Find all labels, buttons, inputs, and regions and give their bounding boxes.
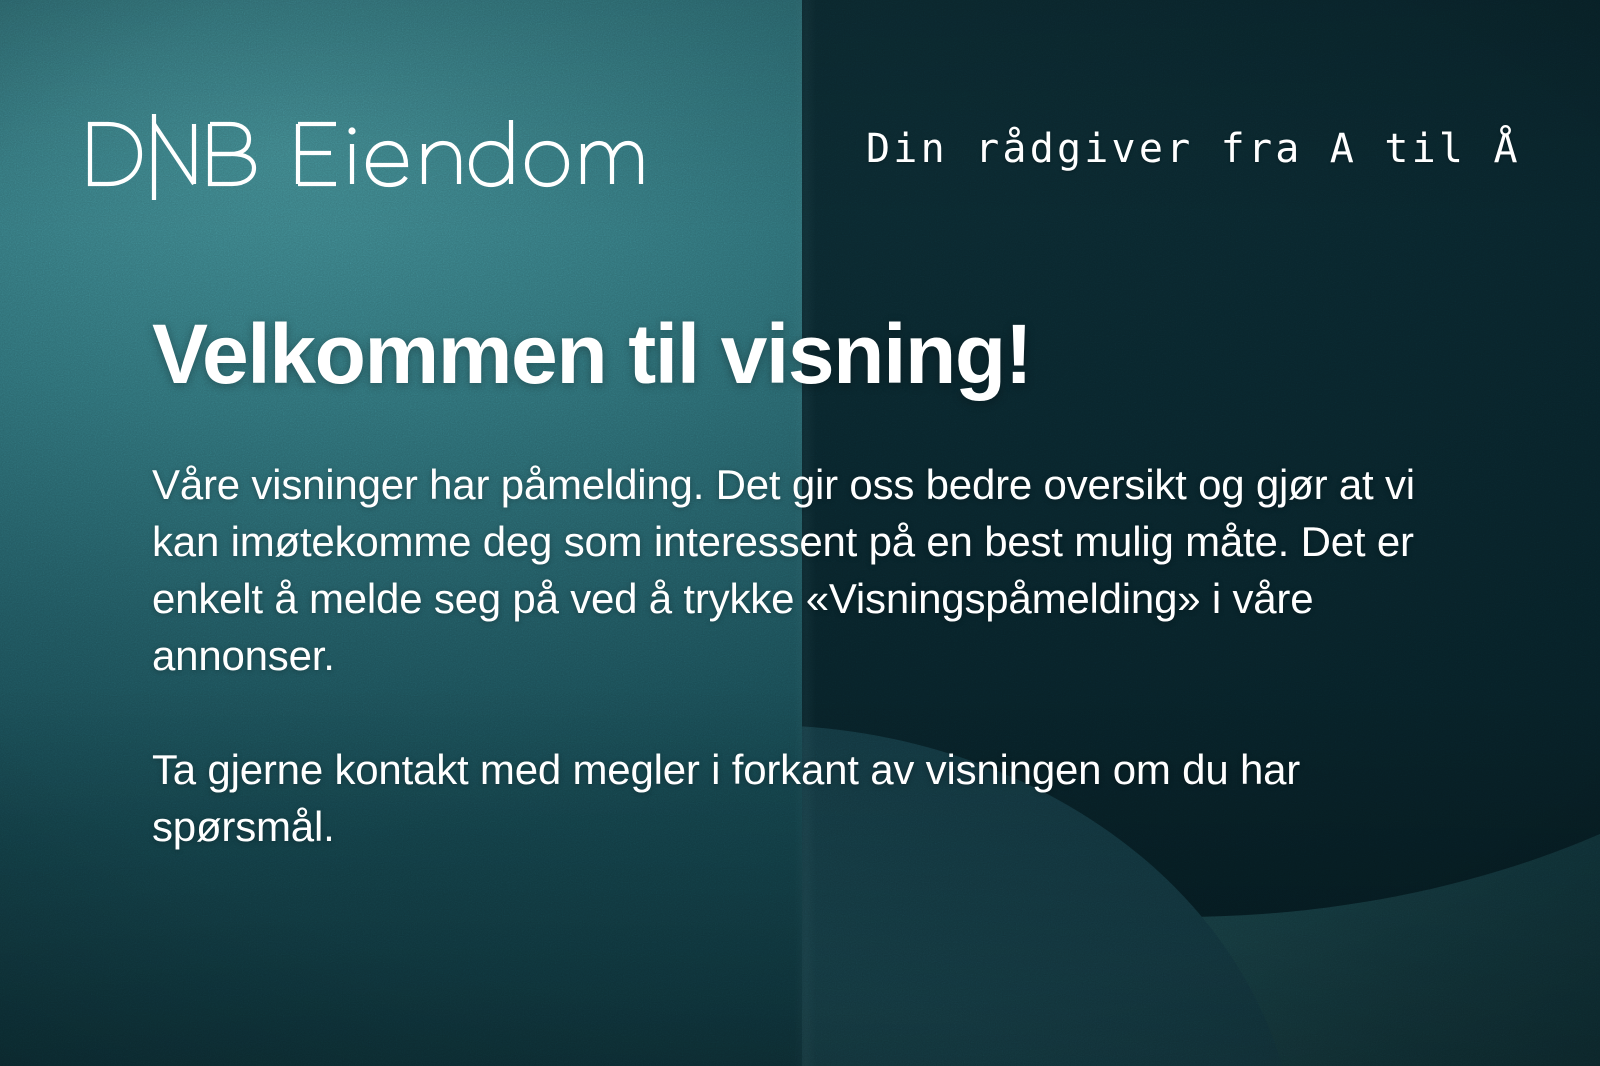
paragraph-registration-info: Våre visninger har påmelding. Det gir os… — [152, 456, 1452, 684]
page-title: Velkommen til visning! — [152, 312, 1031, 396]
slide-content: Din rådgiver fra A til Å Velkommen til v… — [0, 0, 1600, 1066]
dnb-eiendom-logo — [84, 108, 604, 200]
body-copy: Våre visninger har påmelding. Det gir os… — [152, 456, 1452, 855]
slide-canvas: Din rådgiver fra A til Å Velkommen til v… — [0, 0, 1600, 1066]
paragraph-contact-info: Ta gjerne kontakt med megler i forkant a… — [152, 741, 1452, 855]
logo-i-dot — [348, 127, 355, 134]
brand-tagline: Din rådgiver fra A til Å — [866, 126, 1521, 172]
